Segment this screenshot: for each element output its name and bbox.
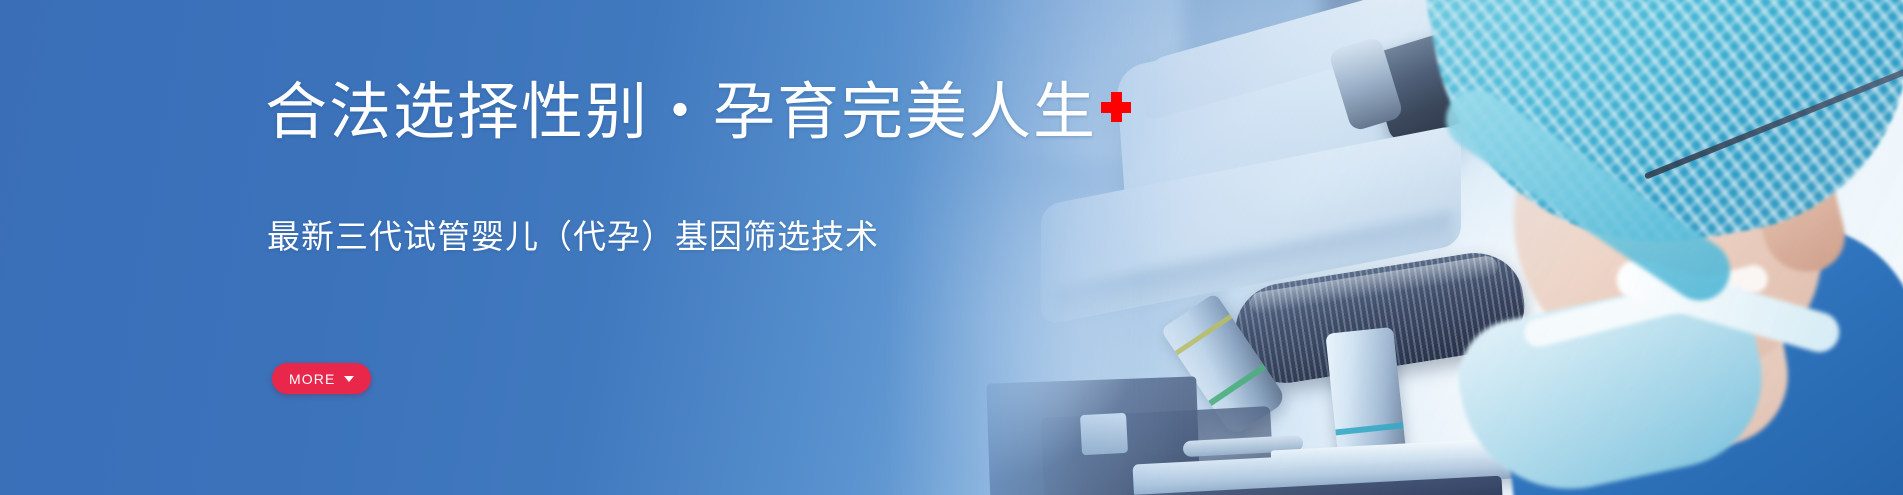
banner-content: 合法选择性别・孕育完美人生 最新三代试管婴儿（代孕）基因筛选技术 MORE: [0, 0, 1200, 495]
headline-row: 合法选择性别・孕育完美人生: [265, 78, 1131, 147]
caret-down-icon: [344, 376, 354, 382]
banner-headline: 合法选择性别・孕育完美人生: [265, 78, 1097, 147]
more-button[interactable]: MORE: [272, 363, 371, 394]
hero-banner: 合法选择性别・孕育完美人生 最新三代试管婴儿（代孕）基因筛选技术 MORE: [0, 0, 1903, 495]
more-button-label: MORE: [289, 371, 335, 387]
banner-subheadline: 最新三代试管婴儿（代孕）基因筛选技术: [267, 210, 879, 258]
red-cross-icon: [1101, 92, 1131, 122]
